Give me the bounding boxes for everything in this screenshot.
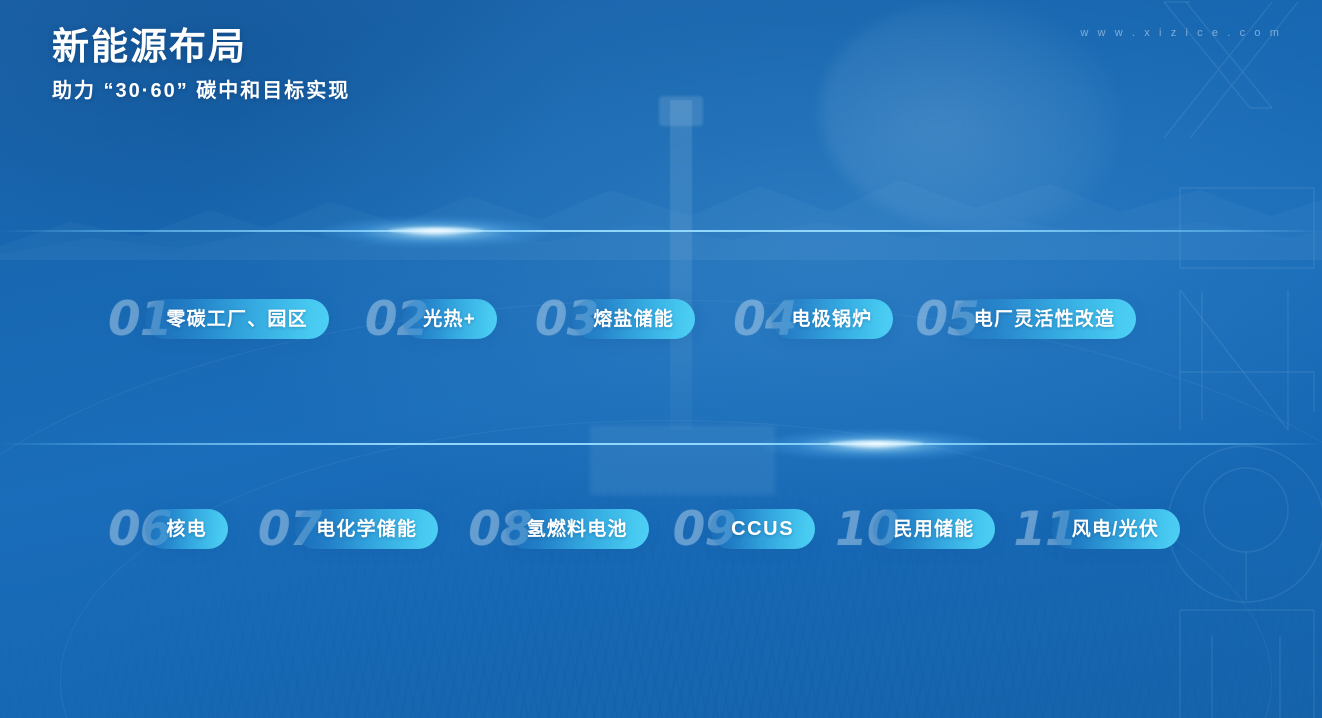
page-subtitle: 助力 “30·60” 碳中和目标实现 [52, 79, 350, 103]
focus-area-item[interactable]: 11风电/光伏 [1013, 494, 1180, 564]
item-label: 风电/光伏 [1072, 520, 1159, 539]
item-pill[interactable]: 电极锅炉 [771, 299, 894, 339]
divider-line [0, 443, 1322, 445]
item-label: 电极锅炉 [792, 310, 873, 329]
solar-plant-base [590, 425, 775, 495]
item-pill[interactable]: 风电/光伏 [1051, 509, 1180, 549]
focus-area-item[interactable]: 10民用储能 [835, 494, 995, 564]
glowing-divider-lower [0, 443, 1322, 445]
decorative-letter-outlines [1102, 0, 1322, 718]
header-block: 新能源布局 助力 “30·60” 碳中和目标实现 [52, 24, 350, 103]
item-row-lower: 06核电07电化学储能08氢燃料电池09CCUS10民用储能11风电/光伏 [0, 494, 1322, 564]
focus-area-item[interactable]: 09CCUS [673, 494, 815, 564]
item-pill[interactable]: 熔盐储能 [572, 299, 695, 339]
item-label: 民用储能 [894, 520, 975, 539]
item-label: CCUS [731, 519, 794, 539]
background-noise-overlay [0, 0, 1322, 718]
item-row-upper: 01零碳工厂、园区02光热+03熔盐储能04电极锅炉05电厂灵活性改造 [0, 284, 1322, 354]
solar-tower-head [659, 96, 703, 126]
item-pill[interactable]: 电厂灵活性改造 [953, 299, 1136, 339]
solar-tower-mast [670, 100, 692, 430]
focus-area-item[interactable]: 04电极锅炉 [733, 284, 893, 354]
item-pill[interactable]: 氢燃料电池 [506, 509, 649, 549]
focus-area-item[interactable]: 05电厂灵活性改造 [915, 284, 1136, 354]
item-label: 零碳工厂、园区 [166, 310, 307, 329]
sun-glow-shape [820, 0, 1120, 230]
page-title: 新能源布局 [52, 24, 350, 70]
focus-area-item[interactable]: 07电化学储能 [258, 494, 438, 564]
site-watermark: w w w . x i z i c e . c o m [1080, 27, 1282, 39]
item-pill[interactable]: 电化学储能 [295, 509, 438, 549]
divider-glow-halo [320, 217, 550, 247]
divider-glow-core [828, 440, 924, 447]
heliostat-field-texture [0, 418, 1322, 718]
glowing-divider-upper [0, 230, 1322, 232]
item-pill[interactable]: 民用储能 [873, 509, 996, 549]
background-photo-layer [0, 0, 1322, 718]
item-label: 氢燃料电池 [527, 520, 628, 539]
item-label: 核电 [166, 520, 206, 539]
item-pill[interactable]: 零碳工厂、园区 [145, 299, 328, 339]
item-label: 熔盐储能 [593, 310, 674, 329]
background-arc-medium [60, 420, 1272, 718]
divider-glow-core [388, 227, 484, 234]
item-label: 电厂灵活性改造 [974, 310, 1115, 329]
focus-area-item[interactable]: 01零碳工厂、园区 [108, 284, 329, 354]
focus-area-item[interactable]: 08氢燃料电池 [468, 494, 648, 564]
item-label: 光热+ [423, 310, 476, 329]
slide-canvas: 新能源布局 助力 “30·60” 碳中和目标实现 w w w . x i z i… [0, 0, 1322, 718]
item-pill[interactable]: CCUS [710, 509, 815, 549]
mountain-ridge-graphic [0, 150, 1322, 260]
item-label: 电化学储能 [316, 520, 417, 539]
item-pill[interactable]: 光热+ [402, 299, 497, 339]
item-pill[interactable]: 核电 [145, 509, 227, 549]
divider-line [0, 230, 1322, 232]
divider-glow-halo [760, 430, 990, 460]
focus-area-item[interactable]: 02光热+ [365, 284, 497, 354]
focus-area-item[interactable]: 06核电 [108, 494, 228, 564]
focus-area-item[interactable]: 03熔盐储能 [535, 284, 695, 354]
